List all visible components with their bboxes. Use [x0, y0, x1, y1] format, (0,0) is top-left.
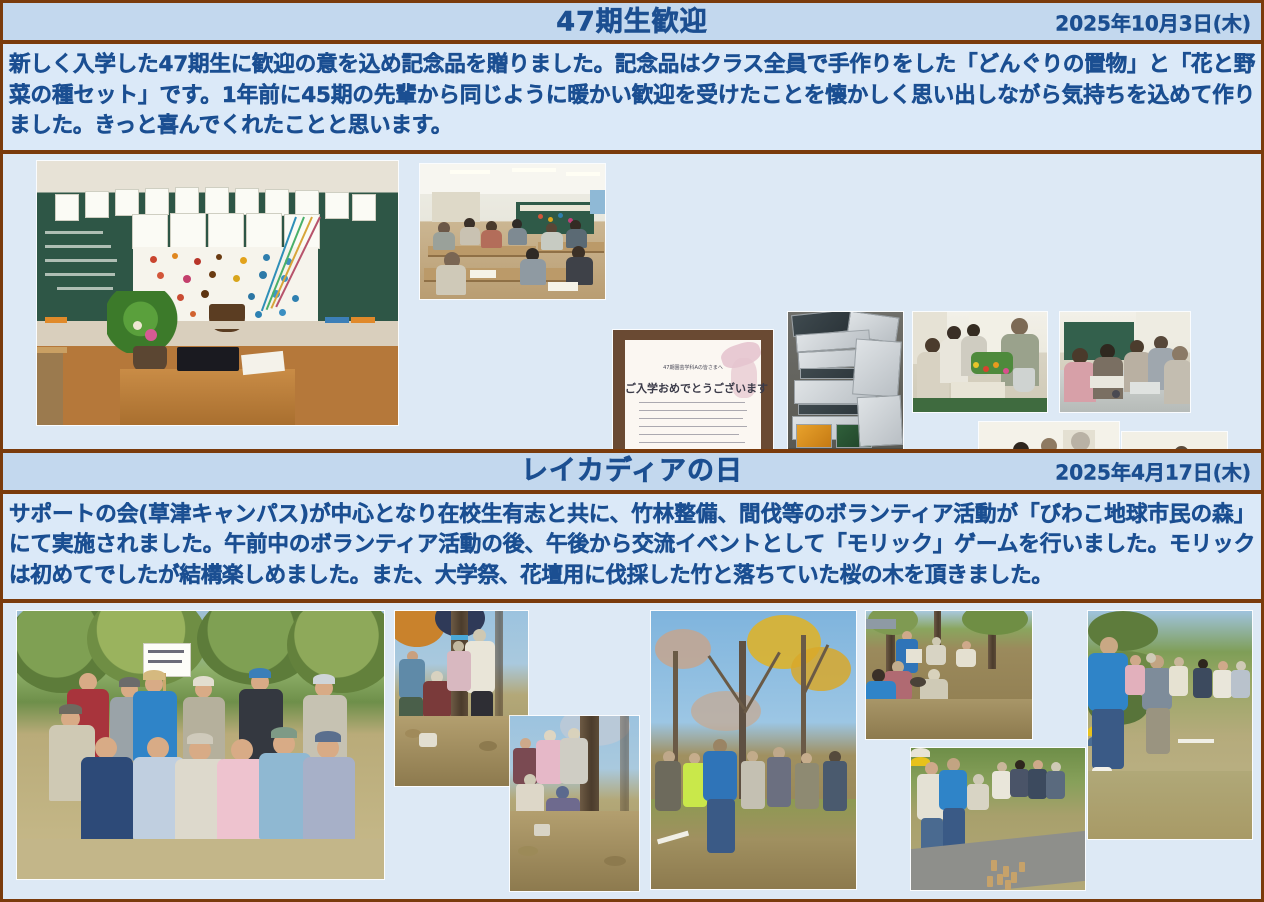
newsletter-page: 47期生歓迎 2025年10月3日(木) 新しく入学した47期生に歓迎の意を込め…: [0, 0, 1264, 902]
photo-gallery-47ki: 47期園芸学科Aの皆さまへ ご入学おめでとうございます: [3, 154, 1261, 453]
letter-headline: ご入学おめでとうございます: [625, 380, 761, 396]
photo-group-portrait[interactable]: [17, 611, 384, 879]
photo-table-work-center[interactable]: [979, 422, 1119, 453]
section-header-47ki: 47期生歓迎 2025年10月3日(木): [3, 3, 1261, 44]
photo-table-work-left[interactable]: [1122, 432, 1227, 453]
photo-gallery-reicadia: [3, 603, 1261, 897]
photo-bamboo-work-upper[interactable]: [395, 611, 528, 786]
photo-table-work-right[interactable]: [1060, 312, 1190, 412]
photo-molkky-game-throw[interactable]: [1088, 611, 1252, 839]
section-header-reicadia: レイカディアの日 2025年4月17日(木): [3, 453, 1261, 494]
photo-lunch-break[interactable]: [866, 611, 1032, 739]
photo-planting-work[interactable]: [913, 312, 1047, 412]
section-47ki: 47期生歓迎 2025年10月3日(木) 新しく入学した47期生に歓迎の意を込め…: [3, 3, 1261, 453]
photo-bamboo-work-lower[interactable]: [510, 716, 639, 891]
photo-tree-thinning[interactable]: [651, 611, 856, 889]
letter-addressee: 47期園芸学科Aの皆さまへ: [625, 364, 761, 371]
photo-congratulation-letter[interactable]: 47期園芸学科Aの皆さまへ ご入学おめでとうございます: [613, 330, 773, 453]
photo-classroom-audience[interactable]: [420, 164, 605, 299]
photo-seed-packets[interactable]: [788, 312, 903, 453]
photo-classroom-blackboard[interactable]: [37, 161, 398, 425]
section-body-reicadia: サポートの会(草津キャンパス)が中心となり在校生有志と共に、竹林整備、間伐等のボ…: [3, 494, 1261, 604]
section-reicadia: レイカディアの日 2025年4月17日(木) サポートの会(草津キャンパス)が中…: [3, 453, 1261, 898]
section-date-47ki: 2025年10月3日(木): [1055, 7, 1251, 36]
section-date-reicadia: 2025年4月17日(木): [1055, 457, 1251, 486]
section-body-47ki: 新しく入学した47期生に歓迎の意を込め記念品を贈りました。記念品はクラス全員で手…: [3, 44, 1261, 154]
photo-molkky-pins[interactable]: [911, 748, 1085, 890]
